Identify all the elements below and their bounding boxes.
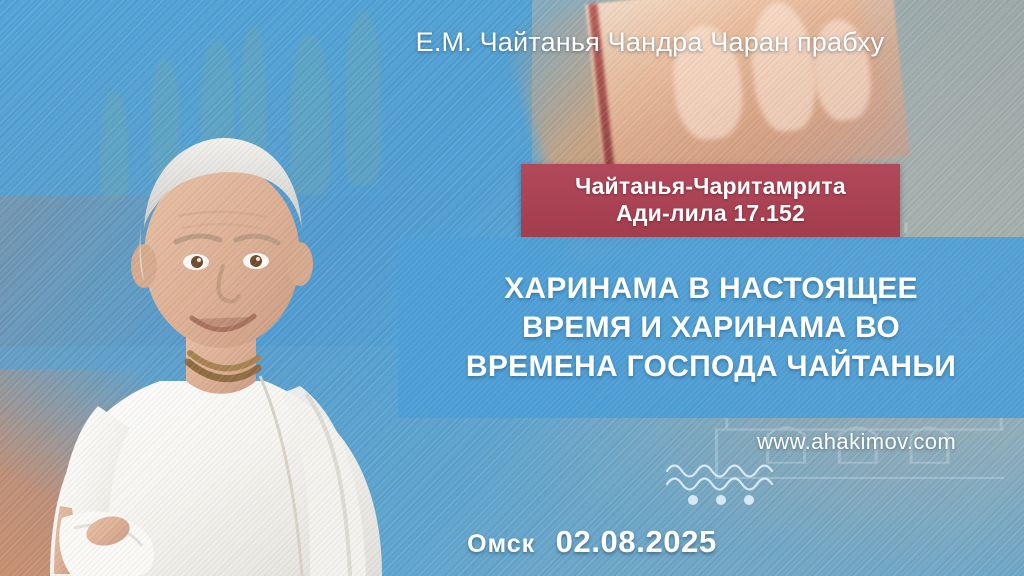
event-city: Омск [467, 530, 535, 558]
speaker-portrait [10, 76, 430, 576]
scripture-name: Чайтанья-Чаритамрита [575, 173, 846, 200]
manuscript-figure [746, 0, 821, 135]
scripture-reference-banner: Чайтанья-Чаритамрита Ади-лила 17.152 [521, 164, 900, 238]
wavy-lines-ornament [661, 457, 781, 509]
event-details: Омск 02.08.2025 [0, 524, 1024, 560]
scripture-chapter-verse: Ади-лила 17.152 [616, 200, 805, 227]
lecture-title-line-3: ВРЕМЕНА ГОСПОДА ЧАЙТАНЬИ [466, 347, 956, 386]
lecture-title-card: Е.М. Чайтанья Чандра Чаран прабху Чайтан… [0, 0, 1024, 576]
lecture-title-line-2: ВРЕМЯ И ХАРИНАМА ВО [522, 308, 900, 347]
lecture-title-line-1: ХАРИНАМА В НАСТОЯЩЕЕ [504, 269, 918, 308]
speaker-name: Е.М. Чайтанья Чандра Чаран прабху [0, 27, 1000, 58]
lecture-title-banner: ХАРИНАМА В НАСТОЯЩЕЕ ВРЕМЯ И ХАРИНАМА ВО… [398, 237, 1024, 418]
website-url[interactable]: www.ahakimov.com [757, 429, 956, 455]
event-date: 02.08.2025 [556, 524, 717, 559]
